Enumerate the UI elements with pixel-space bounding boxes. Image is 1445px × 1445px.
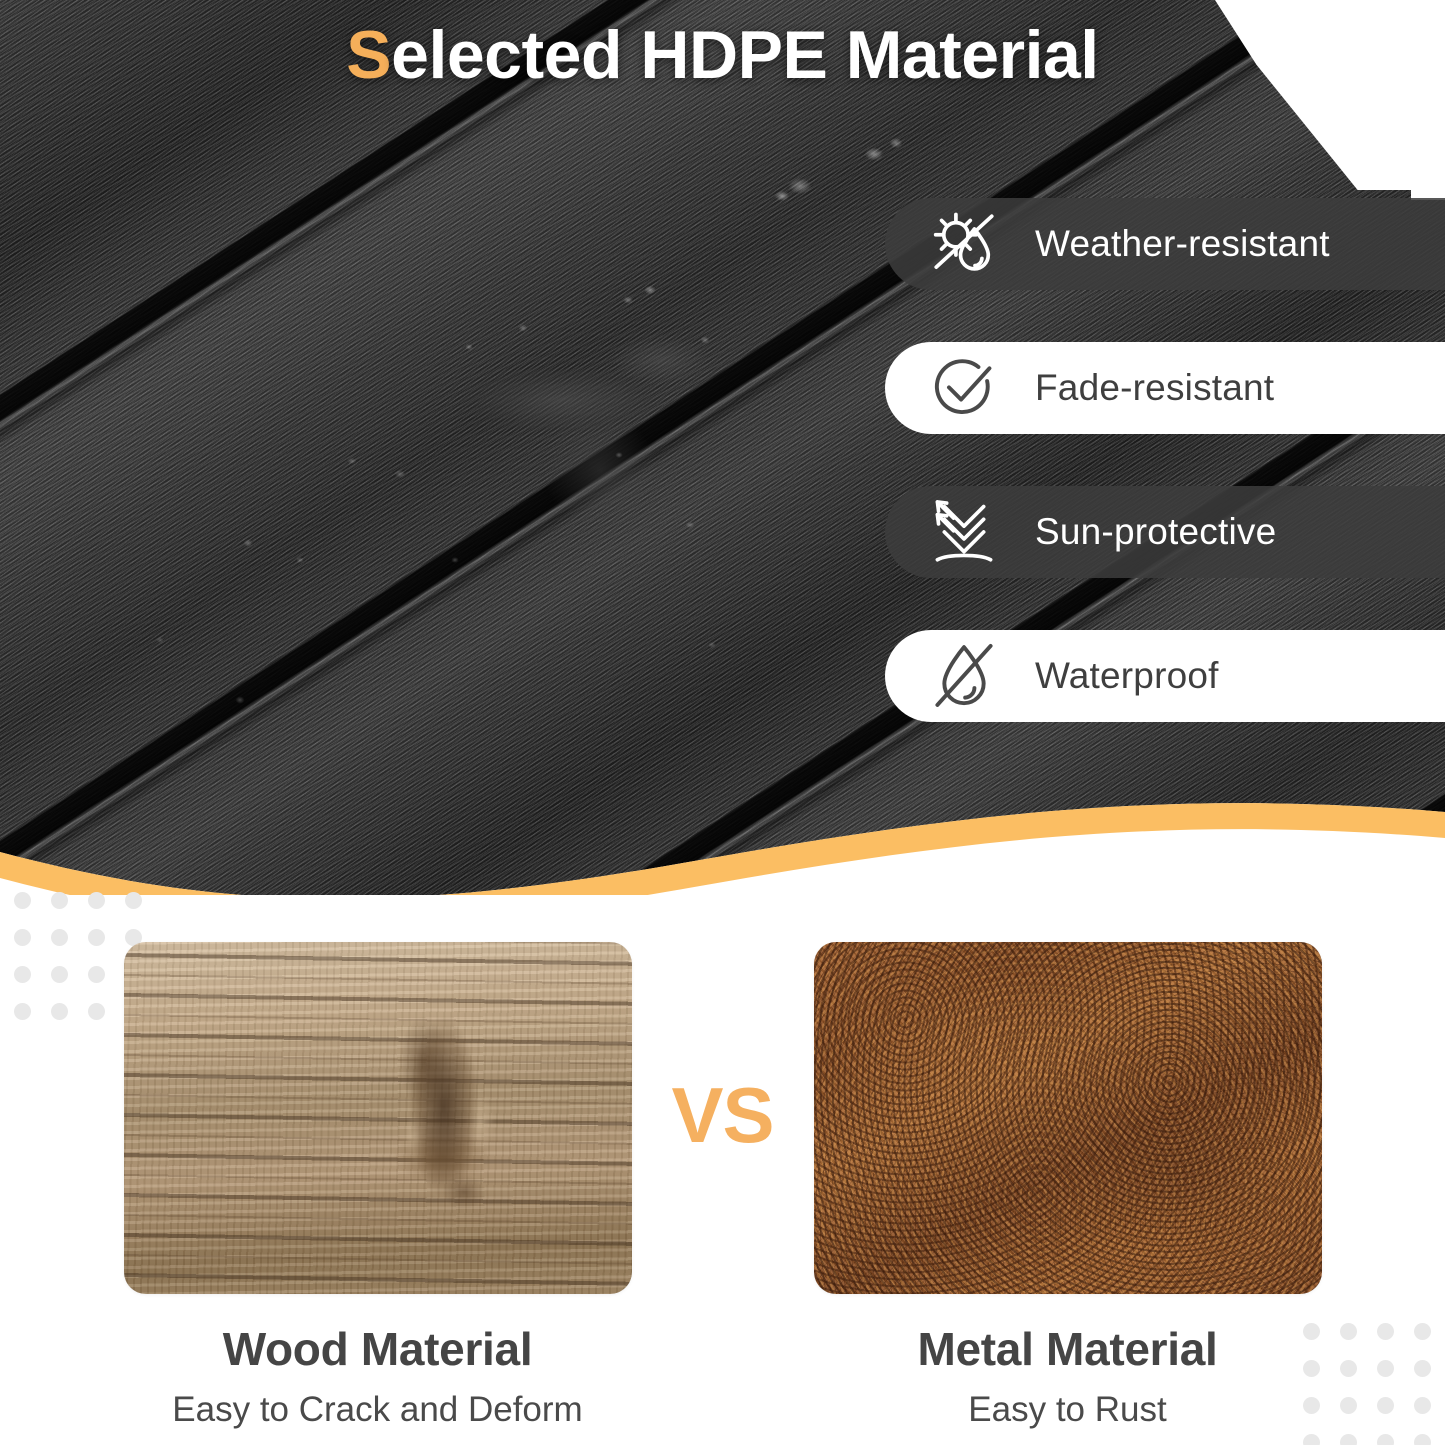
- infographic-page: Selected HDPE Material Weather-resistant: [0, 0, 1445, 1445]
- page-title-rest: elected HDPE Material: [391, 17, 1099, 93]
- hero-section: Selected HDPE Material Weather-resistant: [0, 0, 1445, 895]
- feature-badge-label: Weather-resistant: [1035, 223, 1330, 265]
- board-corner-mask-secondary: [1411, 105, 1445, 200]
- feature-badge-sun-protective[interactable]: Sun-protective: [885, 486, 1445, 578]
- comparison-column-wood: Wood Material Easy to Crack and Deform: [123, 942, 633, 1430]
- page-title-accent-letter: S: [346, 17, 391, 93]
- feature-badge-fade-resistant[interactable]: Fade-resistant: [885, 342, 1445, 434]
- metal-material-title: Metal Material: [917, 1322, 1217, 1376]
- sun-droplet-crossed-icon: [927, 207, 1001, 281]
- metal-material-subtitle: Easy to Rust: [968, 1390, 1166, 1430]
- wood-material-title: Wood Material: [223, 1322, 533, 1376]
- check-circle-icon: [927, 351, 1001, 425]
- orange-wave-divider: [0, 790, 1445, 895]
- droplet-crossed-icon: [927, 639, 1001, 713]
- feature-badge-waterproof[interactable]: Waterproof: [885, 630, 1445, 722]
- page-title: Selected HDPE Material: [0, 16, 1445, 94]
- feature-badge-weather-resistant[interactable]: Weather-resistant: [885, 198, 1445, 290]
- wood-material-subtitle: Easy to Crack and Deform: [172, 1390, 582, 1430]
- comparison-column-metal: Metal Material Easy to Rust: [813, 942, 1323, 1430]
- metal-material-image: [814, 942, 1322, 1294]
- vs-separator: VS: [633, 942, 813, 1161]
- material-comparison: Wood Material Easy to Crack and Deform V…: [0, 942, 1445, 1430]
- feature-badge-list: Weather-resistant Fade-resistant: [885, 198, 1445, 774]
- feature-badge-label: Waterproof: [1035, 655, 1219, 697]
- uv-deflect-chevrons-icon: [927, 495, 1001, 569]
- feature-badge-label: Sun-protective: [1035, 511, 1276, 553]
- feature-badge-label: Fade-resistant: [1035, 367, 1274, 409]
- vs-label: VS: [671, 1070, 773, 1161]
- wood-material-image: [124, 942, 632, 1294]
